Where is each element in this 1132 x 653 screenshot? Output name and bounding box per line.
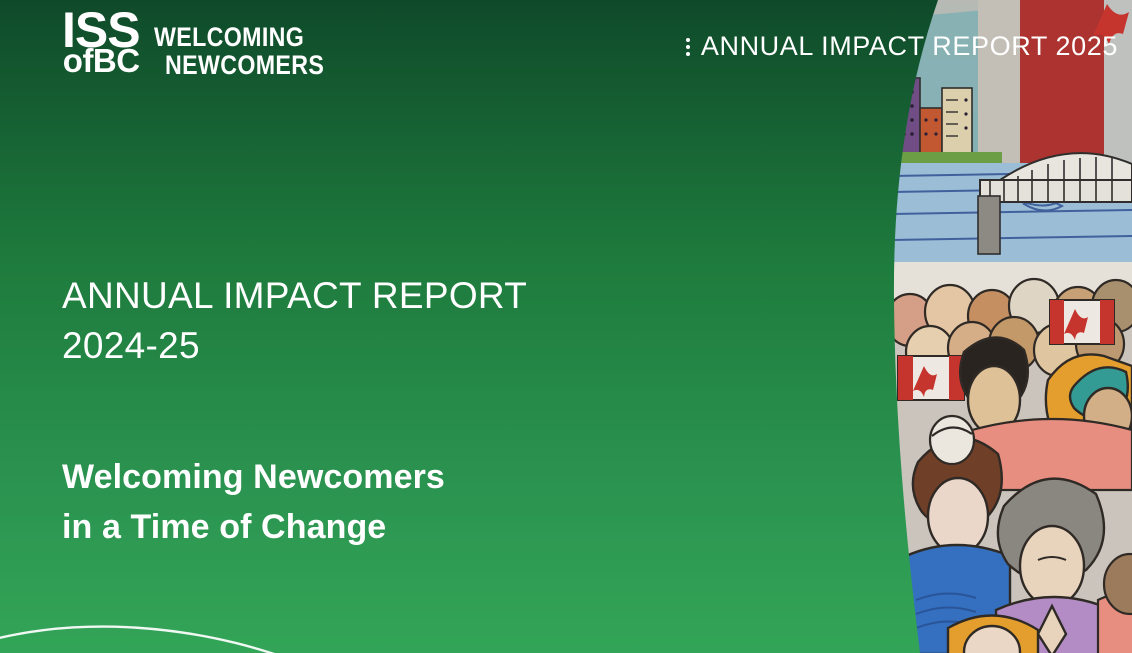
logo-tagline: WELCOMING NEWCOMERS xyxy=(154,24,350,79)
kebab-dot-2 xyxy=(686,45,690,49)
header-title: ANNUAL IMPACT REPORT 2025 xyxy=(701,31,1118,62)
logo-secondary-text: ofBC xyxy=(63,47,140,74)
page-title: ANNUAL IMPACT REPORT 2024-25 xyxy=(62,271,527,371)
tagline-line-2: NEWCOMERS xyxy=(165,52,324,80)
kebab-menu-icon[interactable] xyxy=(686,38,690,56)
kebab-dot-1 xyxy=(686,38,690,42)
organization-logo[interactable]: ISS ofBC WELCOMING NEWCOMERS xyxy=(62,10,350,79)
kebab-dot-3 xyxy=(686,52,690,56)
report-cover-page: ISS ofBC WELCOMING NEWCOMERS ANNUAL IMPA… xyxy=(0,0,1132,653)
header-right-group: ANNUAL IMPACT REPORT 2025 xyxy=(686,31,1118,62)
logo-mark: ISS ofBC xyxy=(62,10,140,74)
tagline-line-1: WELCOMING xyxy=(154,24,323,52)
page-subtitle: Welcoming Newcomers in a Time of Change xyxy=(62,453,445,553)
